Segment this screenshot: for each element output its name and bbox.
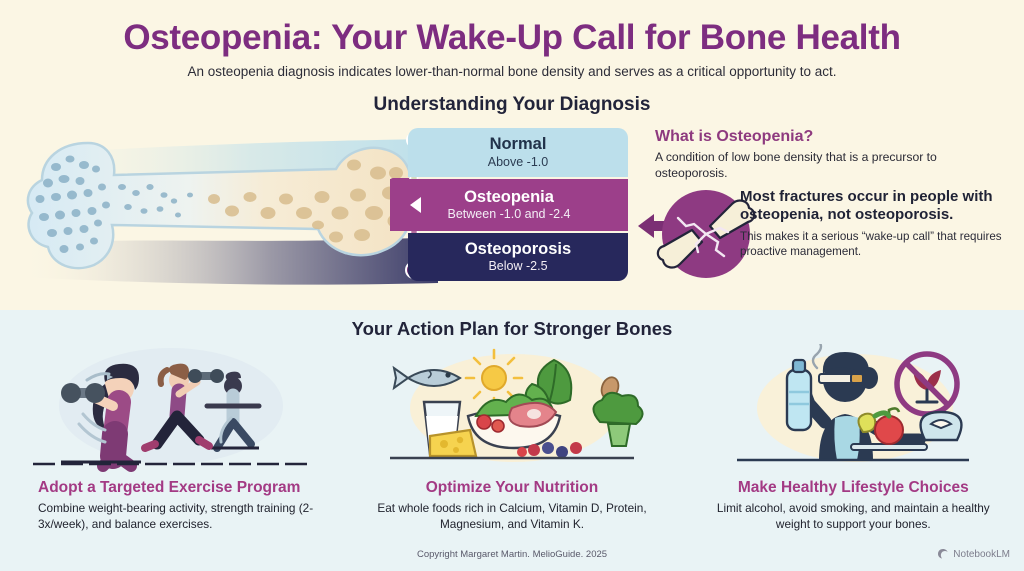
band-osteoporosis-title: Osteoporosis [465,241,571,258]
infographic-page: Osteopenia: Your Wake-Up Call for Bone H… [0,0,1024,571]
card-lifestyle-body: Limit alcohol, avoid smoking, and mainta… [703,501,1003,533]
diagnosis-section: Osteopenia: Your Wake-Up Call for Bone H… [0,0,1024,310]
page-title: Osteopenia: Your Wake-Up Call for Bone H… [0,18,1024,58]
band-normal[interactable]: Normal Above -1.0 [408,128,628,177]
fracture-text: Most fractures occur in people with oste… [740,188,1024,260]
notebooklm-label: NotebookLM [953,549,1010,560]
action-plan-cards: Adopt a Targeted Exercise Program Combin… [0,342,1024,542]
fracture-headline: Most fractures occur in people with oste… [740,188,1024,224]
page-subtitle: An osteopenia diagnosis indicates lower-… [0,64,1024,79]
card-exercise: Adopt a Targeted Exercise Program Combin… [0,342,341,542]
triangle-marker-icon [410,197,421,213]
notebooklm-watermark: NotebookLM [937,548,1010,560]
notebooklm-icon [937,548,949,560]
t-score-band-stack: Normal Above -1.0 Osteopenia Between -1.… [408,128,628,281]
bone-density-illustration [18,125,438,290]
band-normal-title: Normal [490,136,547,153]
fracture-note: This makes it a serious “wake-up call” t… [740,229,1024,260]
card-nutrition-title: Optimize Your Nutrition [426,479,599,497]
card-nutrition-body: Eat whole foods rich in Calcium, Vitamin… [362,501,662,533]
copyright-text: Copyright Margaret Martin. MelioGuide. 2… [0,549,1024,560]
what-is-osteopenia-block: What is Osteopenia? A condition of low b… [655,128,1005,181]
card-lifestyle: Make Healthy Lifestyle Choices Limit alc… [683,342,1024,542]
what-is-body: A condition of low bone density that is … [655,149,1005,181]
card-exercise-body: Combine weight-bearing activity, strengt… [38,501,338,533]
card-exercise-title: Adopt a Targeted Exercise Program [38,479,300,497]
exercise-illustration [0,342,341,477]
nutrition-illustration [341,342,682,477]
what-is-title: What is Osteopenia? [655,128,1005,146]
action-plan-section: Your Action Plan for Stronger Bones [0,310,1024,571]
section-heading-diagnosis: Understanding Your Diagnosis [0,94,1024,116]
lifestyle-illustration [683,342,1024,477]
card-nutrition: Optimize Your Nutrition Eat whole foods … [341,342,682,542]
section-heading-action-plan: Your Action Plan for Stronger Bones [0,318,1024,340]
band-osteoporosis-range: Below -2.5 [488,259,547,273]
band-osteopenia-title: Osteopenia [464,189,554,206]
card-lifestyle-title: Make Healthy Lifestyle Choices [738,479,969,497]
band-osteoporosis[interactable]: Osteoporosis Below -2.5 [408,233,628,281]
band-normal-range: Above -1.0 [488,155,548,169]
band-osteopenia-range: Between -1.0 and -2.4 [448,207,571,221]
band-osteopenia[interactable]: Osteopenia Between -1.0 and -2.4 [390,179,628,231]
fractured-bone-icon [636,186,732,282]
